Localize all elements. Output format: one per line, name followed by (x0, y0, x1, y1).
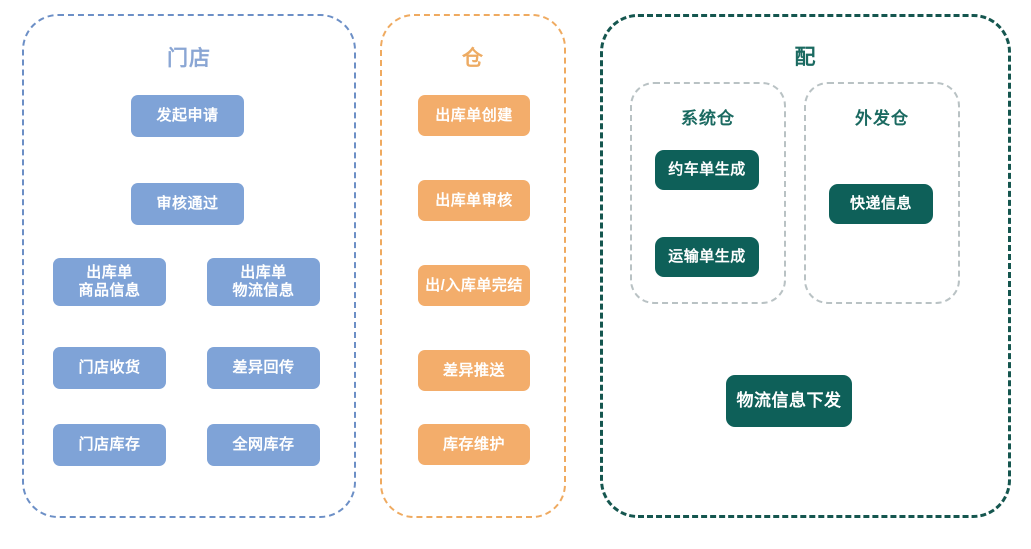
subpanel-system-warehouse-title: 系统仓 (632, 104, 784, 129)
node-delivery-transport-order[interactable]: 运输单生成 (655, 237, 759, 277)
diagram-canvas: 门店 发起申请 审核通过 出库单 商品信息 出库单 物流信息 门店收货 差异回传… (0, 0, 1031, 549)
node-store-outbound-product-info[interactable]: 出库单 商品信息 (53, 258, 166, 306)
node-delivery-logistics-info-dispatch[interactable]: 物流信息下发 (726, 375, 852, 427)
node-store-receiving[interactable]: 门店收货 (53, 347, 166, 389)
subpanel-outsourced-warehouse-title: 外发仓 (806, 104, 958, 129)
node-warehouse-outbound-review[interactable]: 出库单审核 (418, 180, 530, 221)
node-warehouse-inventory-maintenance[interactable]: 库存维护 (418, 424, 530, 465)
node-warehouse-outbound-create[interactable]: 出库单创建 (418, 95, 530, 136)
node-store-discrepancy-return[interactable]: 差异回传 (207, 347, 320, 389)
node-store-approval-passed[interactable]: 审核通过 (131, 183, 244, 225)
node-warehouse-discrepancy-push[interactable]: 差异推送 (418, 350, 530, 391)
panel-store-title: 门店 (24, 42, 354, 72)
node-store-outbound-logistics-info[interactable]: 出库单 物流信息 (207, 258, 320, 306)
node-delivery-courier-info[interactable]: 快递信息 (829, 184, 933, 224)
panel-warehouse-title: 仓 (382, 42, 564, 72)
node-warehouse-inout-complete[interactable]: 出/入库单完结 (418, 265, 530, 306)
node-store-initiate-request[interactable]: 发起申请 (131, 95, 244, 137)
node-store-network-inventory[interactable]: 全网库存 (207, 424, 320, 466)
node-delivery-vehicle-booking-order[interactable]: 约车单生成 (655, 150, 759, 190)
node-store-inventory[interactable]: 门店库存 (53, 424, 166, 466)
panel-delivery-title: 配 (603, 41, 1008, 71)
